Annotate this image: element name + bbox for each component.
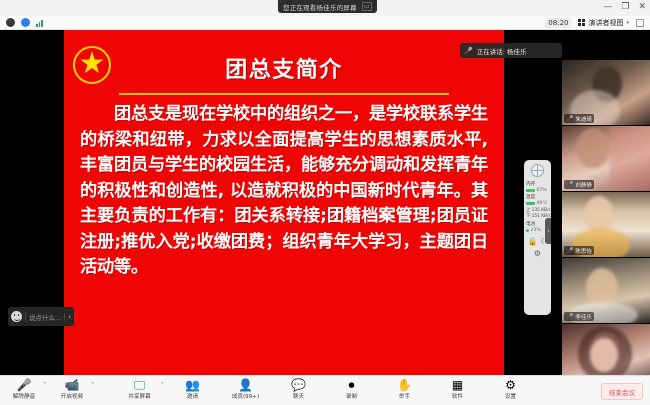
globe-icon[interactable] xyxy=(531,164,544,177)
settings-button[interactable]: ⚙ 设置 xyxy=(491,377,531,400)
members-icon: 👤 xyxy=(238,377,253,391)
chat-input[interactable]: 说点什么... xyxy=(25,312,61,322)
share-screen-button[interactable]: 🖵 共享屏幕 ^ xyxy=(120,377,160,400)
meeting-topbar: 08:20 演讲者视图 ▾ xyxy=(0,16,650,30)
meeting-window: — ❐ ✕ 您正在观看杨佳乐的屏幕 ▭ 08:20 演讲者视图 ▾ xyxy=(0,0,650,405)
chat-label: 聊天 xyxy=(293,392,304,400)
participant-tile[interactable]: 🎤 李佳乐 xyxy=(562,258,650,324)
view-mode-selector[interactable]: 演讲者视图 ▾ xyxy=(578,18,629,28)
meeting-stage: ★ 团总支简介 团总支是现在学校中的组织之一，是学校联系学生的桥梁和纽带，力求以… xyxy=(0,30,650,375)
share-screen-label: 共享屏幕 xyxy=(128,392,150,400)
battery-value: 23% xyxy=(531,228,541,233)
record-label: 录制 xyxy=(346,392,357,400)
muted-mic-icon: 🎤 xyxy=(567,248,574,254)
raise-hand-button[interactable]: ✋ 举手 xyxy=(385,377,425,400)
slide-divider xyxy=(119,93,449,95)
slide-body-text: 团总支是现在学校中的组织之一，是学校联系学生的桥梁和纽带，力求以全面提高学生的思… xyxy=(78,102,490,281)
meeting-bottombar: 🎤 解除静音 ^ 📹 开启视频 ^ 🖵 共享屏幕 ^ 👥 邀请 👤 xyxy=(0,375,650,405)
participant-tile[interactable]: 🎤 刘静静 xyxy=(562,126,650,192)
fullscreen-icon[interactable] xyxy=(636,19,644,27)
chat-collapse-icon[interactable]: ‹ xyxy=(64,313,71,321)
muted-mic-icon: 🎤 xyxy=(567,182,574,188)
memory-row: 内存 67% xyxy=(526,182,549,193)
gear-icon[interactable]: ⚙ xyxy=(526,249,549,258)
screen-share-tooltip-text: 您正在观看杨佳乐的屏幕 xyxy=(283,2,357,12)
participant-nametag: 🎤 朱迪琦 xyxy=(564,114,594,123)
muted-mic-icon: 🎤 xyxy=(567,314,574,320)
active-speaker-banner: 🎤 正在讲话: 杨佳乐 xyxy=(460,43,562,58)
shield-icon[interactable] xyxy=(6,18,15,27)
record-icon: ⏺ xyxy=(348,377,354,391)
apps-icon: ▦ xyxy=(452,377,463,391)
system-monitor-widget[interactable]: 内存 67% 温度 49℃ 上 135 KB/s 下 151 KB/s 电池 2… xyxy=(524,160,551,315)
invite-button[interactable]: 👥 邀请 xyxy=(173,377,213,400)
settings-label: 设置 xyxy=(505,392,516,400)
slide-title: 团总支简介 xyxy=(78,52,490,84)
apps-label: 软件 xyxy=(452,392,463,400)
mic-icon: 🎤 xyxy=(464,47,473,55)
members-button[interactable]: 👤 成员(99+) xyxy=(226,377,266,400)
muted-mic-icon: 🎤 xyxy=(567,116,574,122)
participant-nametag: 🎤 陈思怡 xyxy=(564,246,594,255)
participant-tile[interactable]: 🎤 陈思怡 xyxy=(562,192,650,258)
invite-icon: 👥 xyxy=(185,377,200,391)
minimize-icon[interactable]: — xyxy=(603,1,612,13)
apps-button[interactable]: ▦ 软件 xyxy=(438,377,478,400)
chevron-down-icon: ▾ xyxy=(626,20,629,26)
star-icon: ★ xyxy=(79,49,106,79)
participant-nametag: 🎤 刘静静 xyxy=(564,180,594,189)
youth-league-emblem: ★ xyxy=(73,46,111,84)
topbar-right-controls: 08:20 演讲者视图 ▾ xyxy=(545,18,650,28)
temperature-row: 温度 49℃ xyxy=(526,195,549,206)
maximize-icon[interactable]: ❐ xyxy=(621,1,629,13)
gear-icon: ⚙ xyxy=(505,377,516,391)
widget-drag-handle[interactable]: › xyxy=(545,218,551,244)
close-icon[interactable]: ✕ xyxy=(638,1,646,13)
shared-slide: ★ 团总支简介 团总支是现在学校中的组织之一，是学校联系学生的桥梁和纽带，力求以… xyxy=(64,30,504,375)
end-meeting-button[interactable]: 结束会议 xyxy=(601,383,643,400)
lock-icon[interactable] xyxy=(21,18,30,27)
memory-value: 67% xyxy=(537,188,547,193)
invite-label: 邀请 xyxy=(187,392,198,400)
participant-nametag: 🎤 李佳乐 xyxy=(564,312,594,321)
raise-hand-label: 举手 xyxy=(399,392,410,400)
chevron-up-icon[interactable]: ^ xyxy=(160,382,164,388)
active-speaker-label: 正在讲话: 杨佳乐 xyxy=(477,46,527,56)
smiley-icon[interactable] xyxy=(11,311,22,322)
bottombar-center: 🖵 共享屏幕 ^ 👥 邀请 👤 成员(99+) 💬 聊天 ⏺ 录制 ✋ xyxy=(0,377,650,400)
chat-button[interactable]: 💬 聊天 xyxy=(279,377,319,400)
temperature-bar xyxy=(526,202,535,205)
participant-tile[interactable]: 🎤 朱迪琦 xyxy=(562,60,650,126)
raise-hand-icon: ✋ xyxy=(397,377,412,391)
participant-name: 刘静静 xyxy=(575,181,592,189)
battery-dot xyxy=(526,229,529,232)
memory-bar xyxy=(526,189,535,192)
grid-icon xyxy=(578,19,585,26)
screen-icon[interactable]: ▭ xyxy=(362,2,372,11)
lock-icon[interactable]: 🔒 xyxy=(527,237,537,246)
chat-icon: 💬 xyxy=(291,377,306,391)
temperature-value: 49℃ xyxy=(537,201,548,206)
participant-name: 朱迪琦 xyxy=(575,115,592,123)
signal-icon[interactable] xyxy=(36,19,43,27)
topbar-left-icons xyxy=(0,18,43,27)
participant-name: 陈思怡 xyxy=(575,247,592,255)
chat-minibar[interactable]: 说点什么... ‹ xyxy=(8,307,74,326)
clock: 08:20 xyxy=(545,18,571,28)
screen-share-tooltip: 您正在观看杨佳乐的屏幕 ▭ xyxy=(278,0,377,13)
record-button[interactable]: ⏺ 录制 xyxy=(332,377,372,400)
participant-rail[interactable]: 🎤 朱迪琦 🎤 刘静静 xyxy=(562,60,650,405)
window-controls: — ❐ ✕ xyxy=(603,1,646,13)
share-screen-icon: 🖵 xyxy=(134,377,146,391)
view-mode-label: 演讲者视图 xyxy=(588,18,623,28)
members-label: 成员(99+) xyxy=(232,392,259,400)
participant-name: 李佳乐 xyxy=(575,313,592,321)
